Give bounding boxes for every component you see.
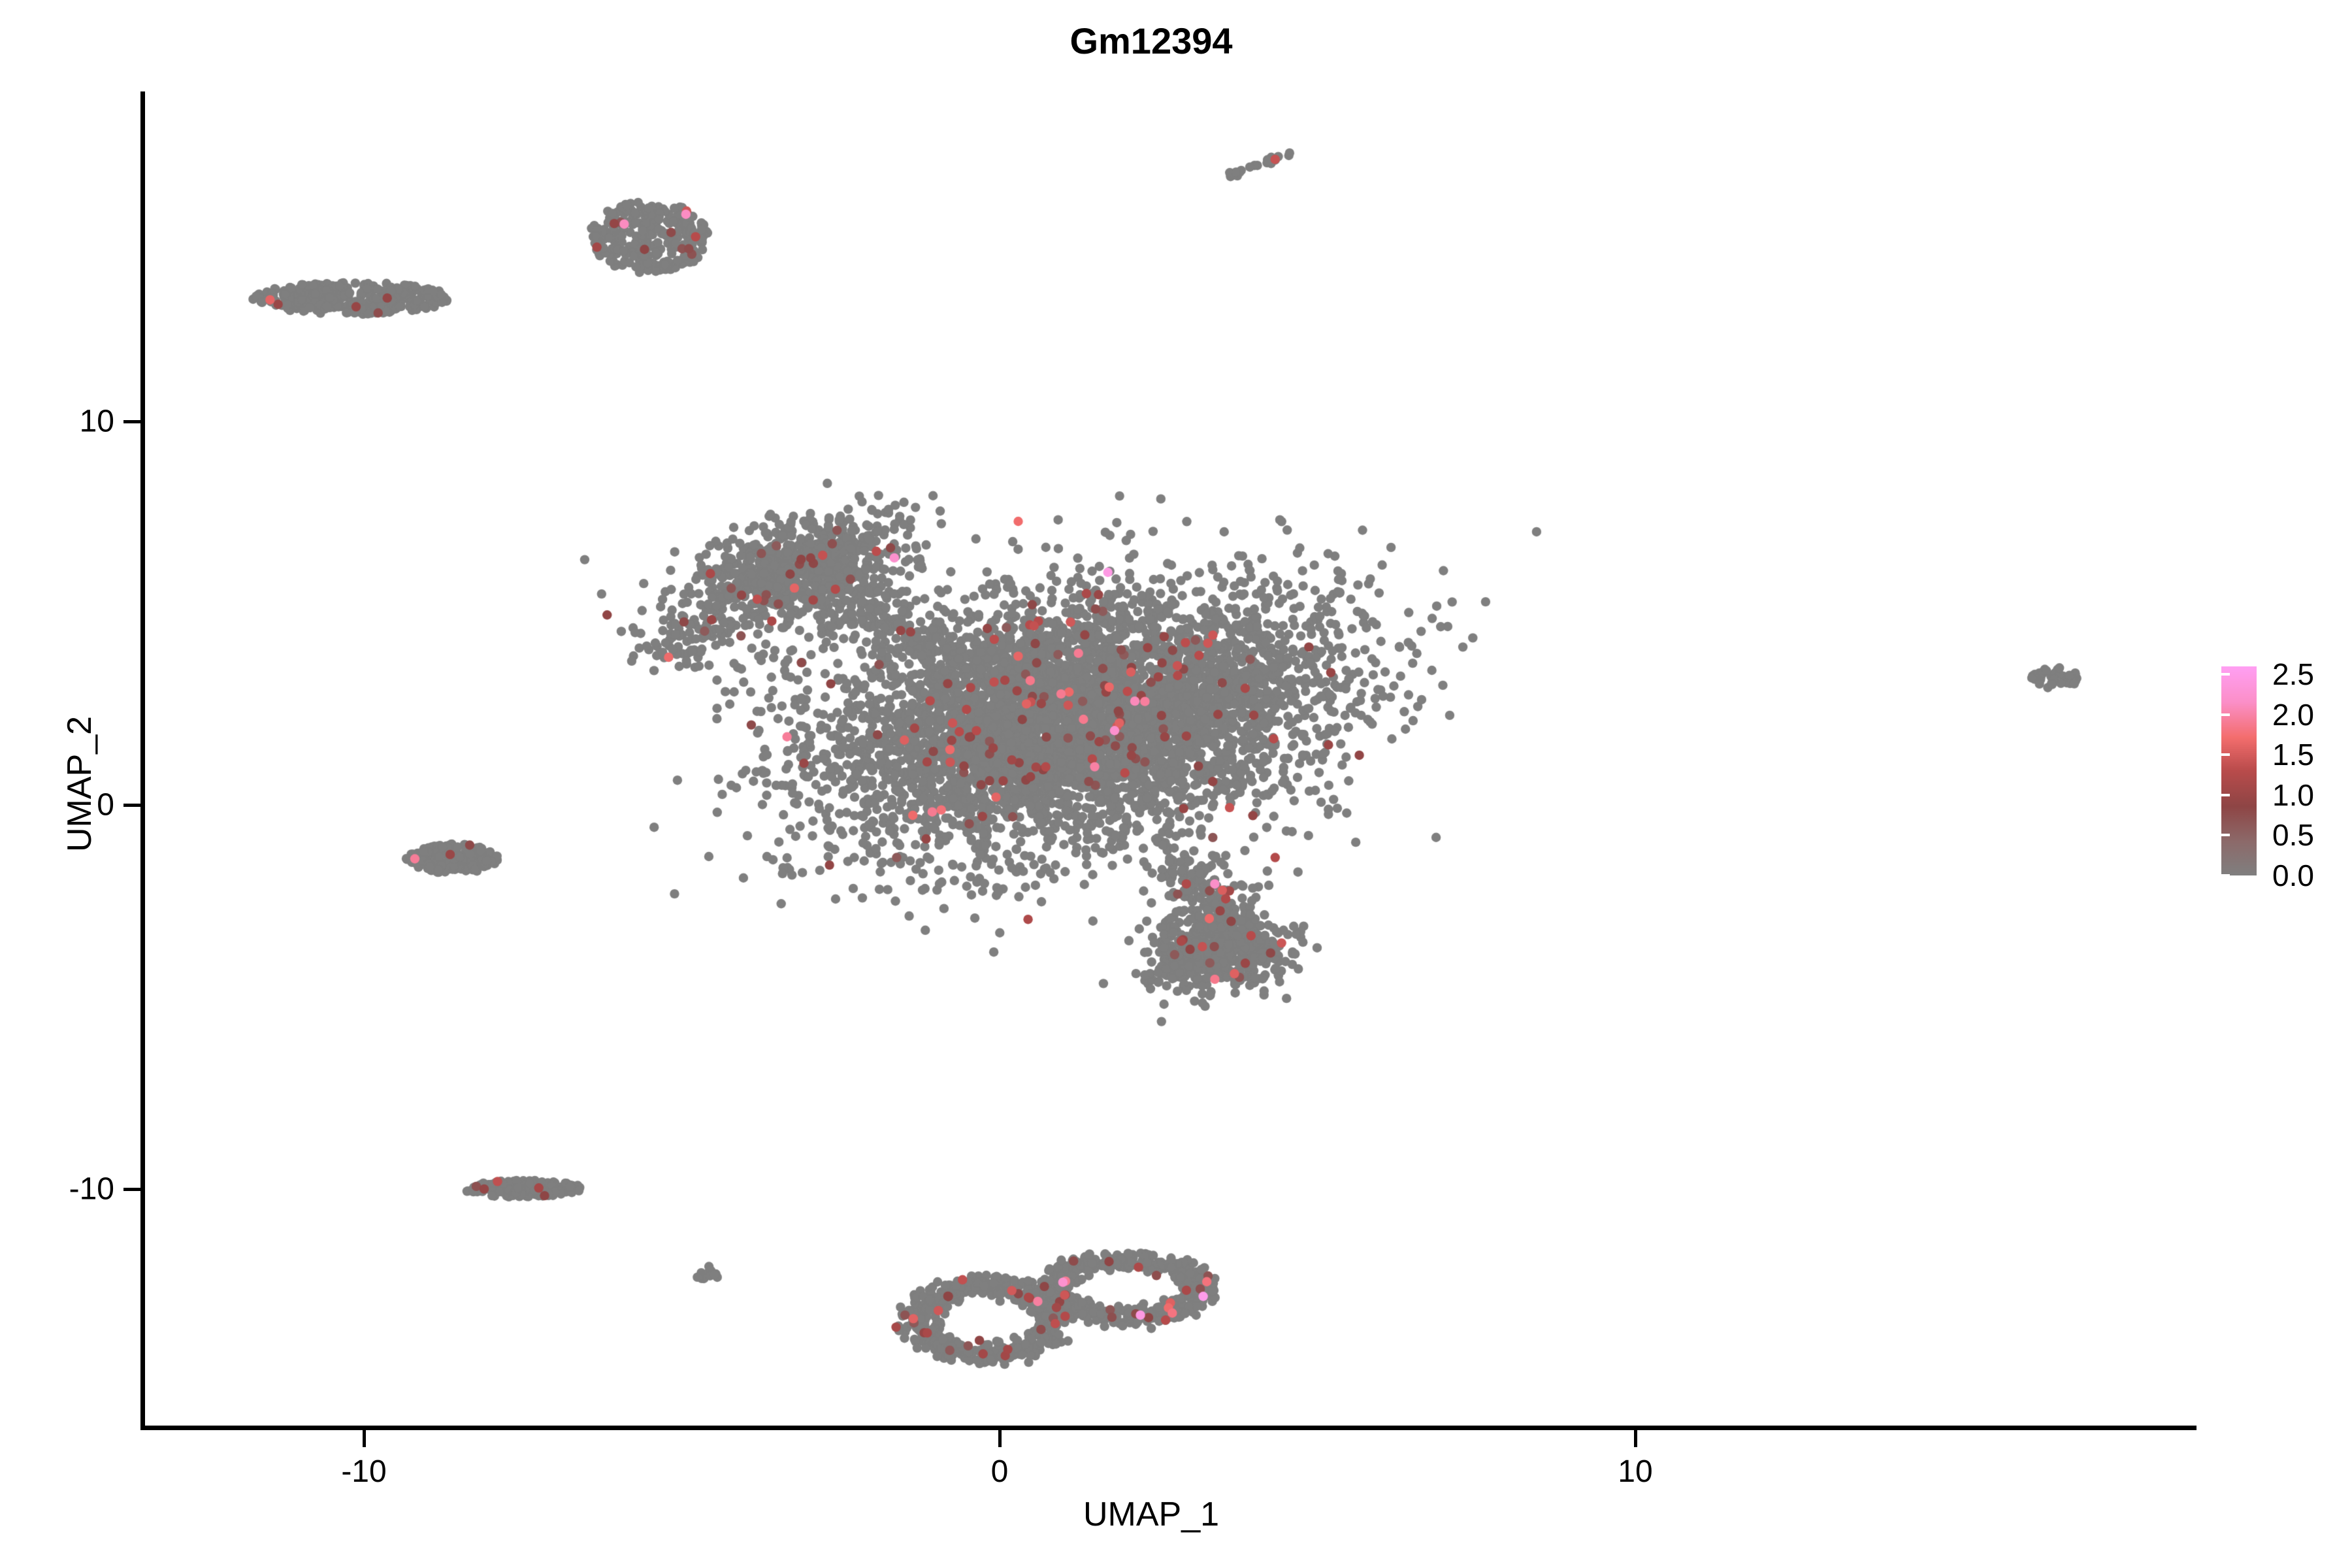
x-tick-mark: [363, 1430, 366, 1447]
page-title: Gm12394: [0, 20, 2327, 62]
y-tick-mark: [123, 1188, 140, 1191]
colorbar-tick-label: 1.5: [2272, 737, 2314, 772]
umap-feature-plot: Gm12394 -10010 -10010 UMAP_1 UMAP_2 0.00…: [0, 0, 2352, 1568]
y-tick-mark: [123, 420, 140, 423]
colorbar-tick-mark: [2221, 794, 2230, 796]
colorbar-tick-label: 2.0: [2272, 697, 2314, 732]
x-tick-mark: [998, 1430, 1002, 1447]
colorbar-tick-label: 0.5: [2272, 817, 2314, 853]
x-tick-label: -10: [341, 1454, 386, 1490]
colorbar-tick-label: 2.5: [2272, 657, 2314, 692]
colorbar-tick-mark: [2221, 874, 2230, 877]
colorbar-tick-mark: [2221, 673, 2230, 676]
colorbar-tick-label: 1.0: [2272, 777, 2314, 813]
colorbar-tick-mark: [2344, 794, 2352, 796]
y-axis-line: [140, 91, 145, 1429]
colorbar-tick-mark: [2221, 753, 2230, 756]
x-axis-line: [140, 1426, 2197, 1430]
x-tick-label: 10: [1618, 1454, 1652, 1490]
y-axis-label: UMAP_2: [60, 716, 99, 852]
colorbar-tick-label: 0.0: [2272, 858, 2314, 893]
colorbar-tick-mark: [2221, 834, 2230, 836]
colorbar-tick-mark: [2344, 673, 2352, 676]
x-axis-label: UMAP_1: [0, 1495, 2327, 1534]
y-tick-label: -10: [69, 1171, 114, 1207]
scatter-points-layer: [144, 91, 2183, 1428]
y-tick-label: 10: [80, 403, 114, 439]
x-tick-mark: [1634, 1430, 1637, 1447]
y-tick-label: 0: [97, 787, 114, 823]
colorbar-tick-mark: [2344, 874, 2352, 877]
colorbar-gradient: [2221, 666, 2257, 875]
colorbar-tick-mark: [2344, 713, 2352, 716]
colorbar-tick-mark: [2344, 834, 2352, 836]
plot-panel: [144, 91, 2183, 1428]
colorbar-tick-mark: [2221, 713, 2230, 716]
colorbar-legend: 0.00.51.01.52.02.5: [2221, 666, 2352, 882]
y-tick-mark: [123, 804, 140, 807]
x-tick-label: 0: [991, 1454, 1009, 1490]
colorbar-tick-mark: [2344, 753, 2352, 756]
